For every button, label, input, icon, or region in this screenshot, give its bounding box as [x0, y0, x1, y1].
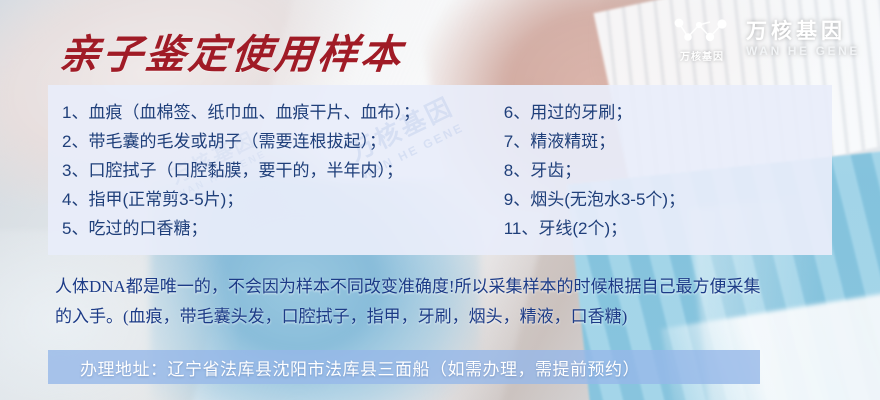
logo-brand-en: WAN HE GENE — [746, 44, 860, 58]
list-item: 6、用过的牙刷； — [504, 98, 832, 127]
list-item: 3、口腔拭子（口腔黏膜，要干的，半年内）； — [62, 156, 490, 185]
logo-mark-caption: 万核基因 — [680, 48, 724, 63]
list-item: 2、带毛囊的毛发或胡子（需要连根拔起）； — [62, 127, 490, 156]
sample-list-left-column: 1、血痕（血棉签、纸巾血、血痕干片、血布）； 2、带毛囊的毛发或胡子（需要连根拔… — [48, 85, 490, 255]
logo-brand-cn: 万核基因 — [746, 20, 860, 43]
molecule-dna-icon — [672, 16, 732, 46]
list-item: 4、指甲(正常剪3-5片)； — [62, 185, 490, 214]
list-item: 5、吃过的口香糖； — [62, 214, 490, 243]
description-line-1: 人体DNA都是唯一的，不会因为样本不同改变准确度!所以采集样本的时候根据自己最方… — [55, 272, 845, 302]
address-bar-text: 办理地址：辽宁省法库县沈阳市法库县三面船（如需办理，需提前预约） — [48, 355, 640, 380]
list-item: 9、烟头(无泡水3-5个)； — [504, 185, 832, 214]
description-line-2: 的入手。(血痕，带毛囊头发，口腔拭子，指甲，牙刷，烟头，精液，口香糖) — [55, 302, 845, 332]
poster-banner: 亲子鉴定使用样本 — [0, 0, 880, 400]
list-item: 1、血痕（血棉签、纸巾血、血痕干片、血布）； — [62, 98, 490, 127]
logo-mark: 万核基因 — [672, 16, 732, 63]
logo-wordmark: 万核基因 WAN HE GENE — [746, 20, 860, 58]
sample-list-right-column: 6、用过的牙刷； 7、精液精斑； 8、牙齿； 9、烟头(无泡水3-5个)； 11… — [490, 85, 832, 255]
sample-list-panel: 万核基因 WAN HE GENE 万核基因 WAN HE GENE 1、血痕（血… — [48, 85, 832, 255]
list-item: 11、牙线(2个)； — [504, 214, 832, 243]
description-paragraph: 人体DNA都是唯一的，不会因为样本不同改变准确度!所以采集样本的时候根据自己最方… — [55, 272, 845, 332]
page-title: 亲子鉴定使用样本 — [57, 22, 407, 80]
brand-logo: 万核基因 万核基因 WAN HE GENE — [672, 16, 860, 63]
list-item: 8、牙齿； — [504, 156, 832, 185]
address-bar: 办理地址：辽宁省法库县沈阳市法库县三面船（如需办理，需提前预约） — [48, 350, 760, 384]
list-item: 7、精液精斑； — [504, 127, 832, 156]
